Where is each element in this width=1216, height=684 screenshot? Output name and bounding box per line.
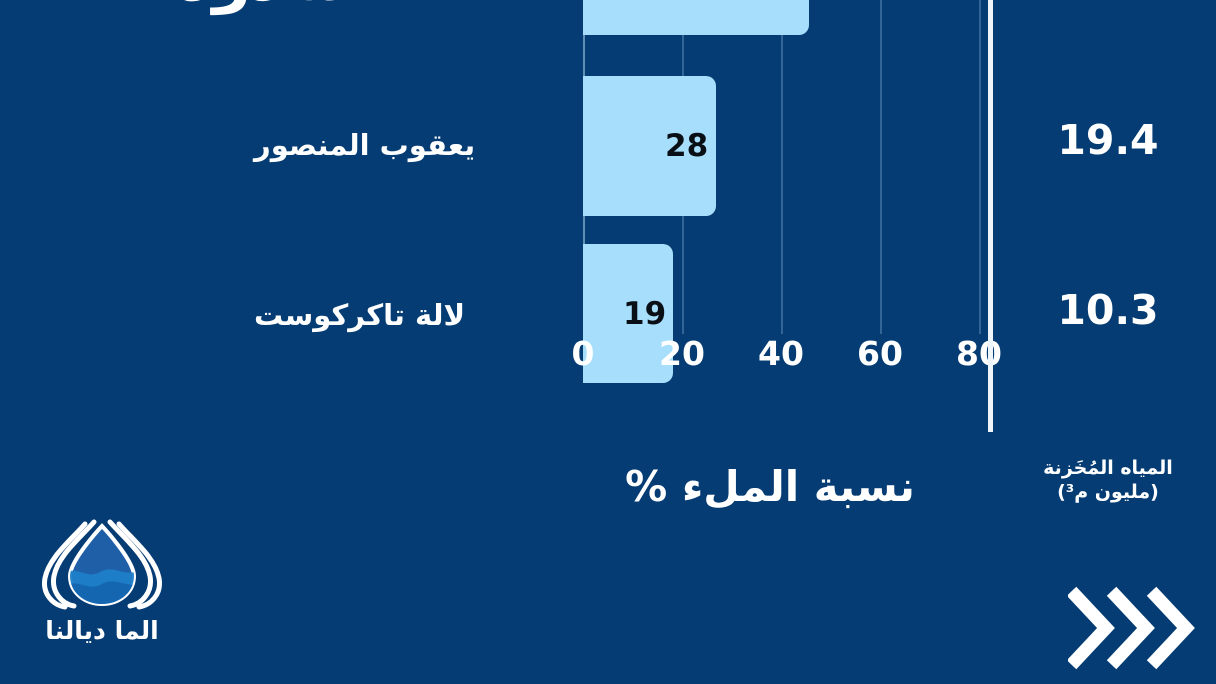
category-label-yacoub: يعقوب المنصور: [254, 128, 564, 162]
category-label-takerkoust: لالة تاكركوست: [254, 298, 564, 332]
right-column-title-line2: (مليون م³): [1000, 480, 1216, 504]
x-axis-title: نسبة الملء %: [560, 462, 980, 511]
xtick-20: 20: [659, 334, 705, 373]
bar-value-2: 28: [665, 128, 708, 164]
vertical-divider: [988, 0, 993, 432]
gridline-40: [781, 0, 783, 334]
logo-caption: الما ديالنا: [24, 616, 180, 645]
xtick-40: 40: [758, 334, 804, 373]
infographic-canvas: سدود 28 19 0 20 40 60 80 يعقوب المنصور ل…: [0, 0, 1216, 684]
headline-clipped: سدود: [28, 0, 348, 58]
stored-water-value-1: 19.4: [1000, 116, 1216, 164]
bar-1: [583, 0, 809, 35]
xtick-80: 80: [956, 334, 1002, 373]
xtick-0: 0: [572, 334, 595, 373]
xtick-60: 60: [857, 334, 903, 373]
water-drop-logo: الما ديالنا: [24, 512, 180, 664]
headline-text: سدود: [28, 0, 348, 10]
right-column-title: المياه المُخَزنة (مليون م³): [1000, 456, 1216, 505]
bar-chart-plot-area: 28 19 0 20 40 60 80: [583, 0, 975, 388]
right-column-title-line1: المياه المُخَزنة: [1043, 457, 1173, 479]
stored-water-value-2: 10.3: [1000, 286, 1216, 334]
gridline-60: [880, 0, 882, 334]
bar-value-3: 19: [623, 296, 666, 332]
triple-chevron-right-icon: [1068, 586, 1198, 670]
gridline-80: [979, 0, 981, 334]
